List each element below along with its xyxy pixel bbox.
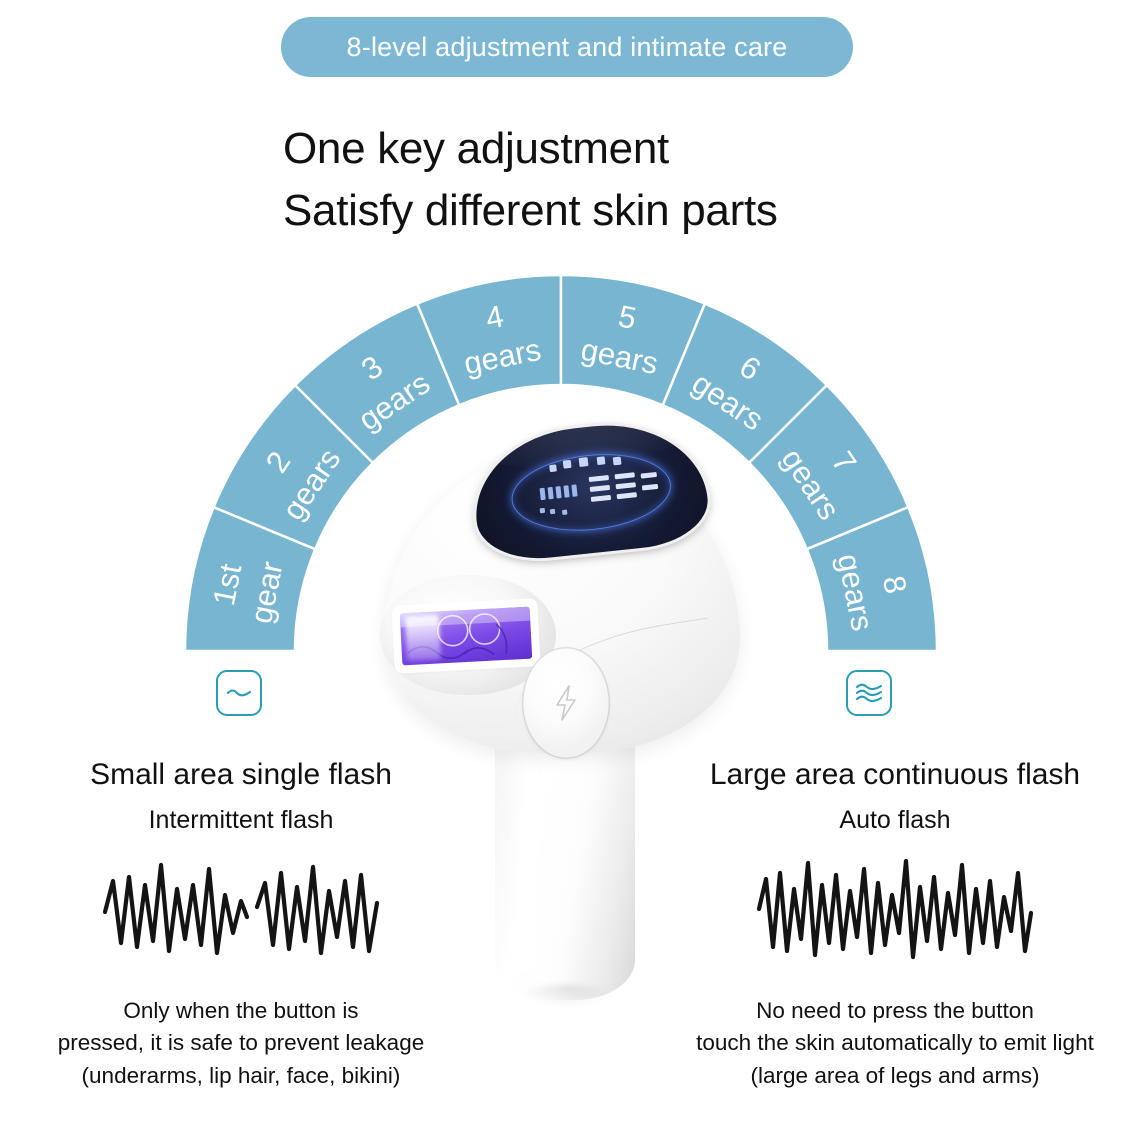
left-mode-description: Only when the button is pressed, it is s… [6, 995, 476, 1093]
infographic-canvas: 8-level adjustment and intimate care One… [0, 0, 1134, 1134]
gear-segment-3-number: 3 [355, 349, 389, 388]
gear-segment-7-number: 7 [825, 445, 864, 479]
right-desc-line-3: (large area of legs and arms) [660, 1060, 1130, 1093]
gear-segment-1-number: 1st [206, 561, 248, 609]
right-desc-line-2: touch the skin automatically to emit lig… [660, 1027, 1130, 1060]
left-mode-subtitle: Intermittent flash [6, 806, 476, 835]
device-reflection [498, 985, 634, 1045]
gear-segment-7[interactable] [749, 385, 908, 549]
mode-column-right: Large area continuous flash Auto flash N… [660, 758, 1130, 1092]
right-mode-description: No need to press the button touch the sk… [660, 995, 1130, 1093]
flash-window-frame [394, 601, 537, 670]
gear-segment-6-number: 6 [733, 349, 767, 388]
gear-segment-2[interactable] [214, 385, 373, 549]
gear-segment-4[interactable] [417, 275, 561, 405]
left-desc-line-1: Only when the button is [6, 995, 476, 1028]
gear-segment-8[interactable] [807, 507, 937, 651]
banner-pill: 8-level adjustment and intimate care [281, 17, 853, 77]
gear-segment-8-number: 8 [876, 573, 914, 597]
page-title: One key adjustment Satisfy different ski… [283, 118, 1043, 243]
gear-segment-2-word: gears [275, 442, 347, 526]
headline-line-1: One key adjustment [283, 118, 1043, 180]
left-desc-line-2: pressed, it is safe to prevent leakage [6, 1027, 476, 1060]
lightning-bolt-icon [551, 684, 581, 722]
triple-wave-icon [846, 670, 892, 716]
gear-segment-1[interactable] [185, 507, 315, 651]
flash-button[interactable] [522, 647, 610, 759]
gear-segment-5-word: gears [578, 332, 661, 381]
gear-segment-4-word: gears [461, 332, 544, 381]
left-mode-title: Small area single flash [6, 758, 476, 792]
right-desc-line-1: No need to press the button [660, 995, 1130, 1028]
banner-text: 8-level adjustment and intimate care [347, 32, 788, 63]
right-mode-subtitle: Auto flash [660, 806, 1130, 835]
single-wave-icon [216, 670, 262, 716]
gear-segment-7-word: gears [775, 442, 847, 526]
lcd-display [468, 415, 712, 565]
continuous-waveform [660, 855, 1130, 985]
left-desc-line-3: (underarms, lip hair, face, bikini) [6, 1060, 476, 1093]
flash-window-glass [400, 607, 533, 666]
gear-segment-5-number: 5 [616, 298, 640, 336]
flash-window-shine [405, 615, 441, 661]
gear-segment-8-word: gears [831, 551, 880, 634]
gear-segment-1-word: gear [243, 559, 289, 627]
intermittent-waveform [6, 855, 476, 985]
right-mode-title: Large area continuous flash [660, 758, 1130, 792]
gear-segment-5[interactable] [561, 275, 705, 405]
gear-segment-4-number: 4 [483, 298, 507, 336]
gear-segment-2-number: 2 [259, 445, 298, 479]
headline-line-2: Satisfy different skin parts [283, 180, 1043, 242]
mode-column-left: Small area single flash Intermittent fla… [6, 758, 476, 1092]
